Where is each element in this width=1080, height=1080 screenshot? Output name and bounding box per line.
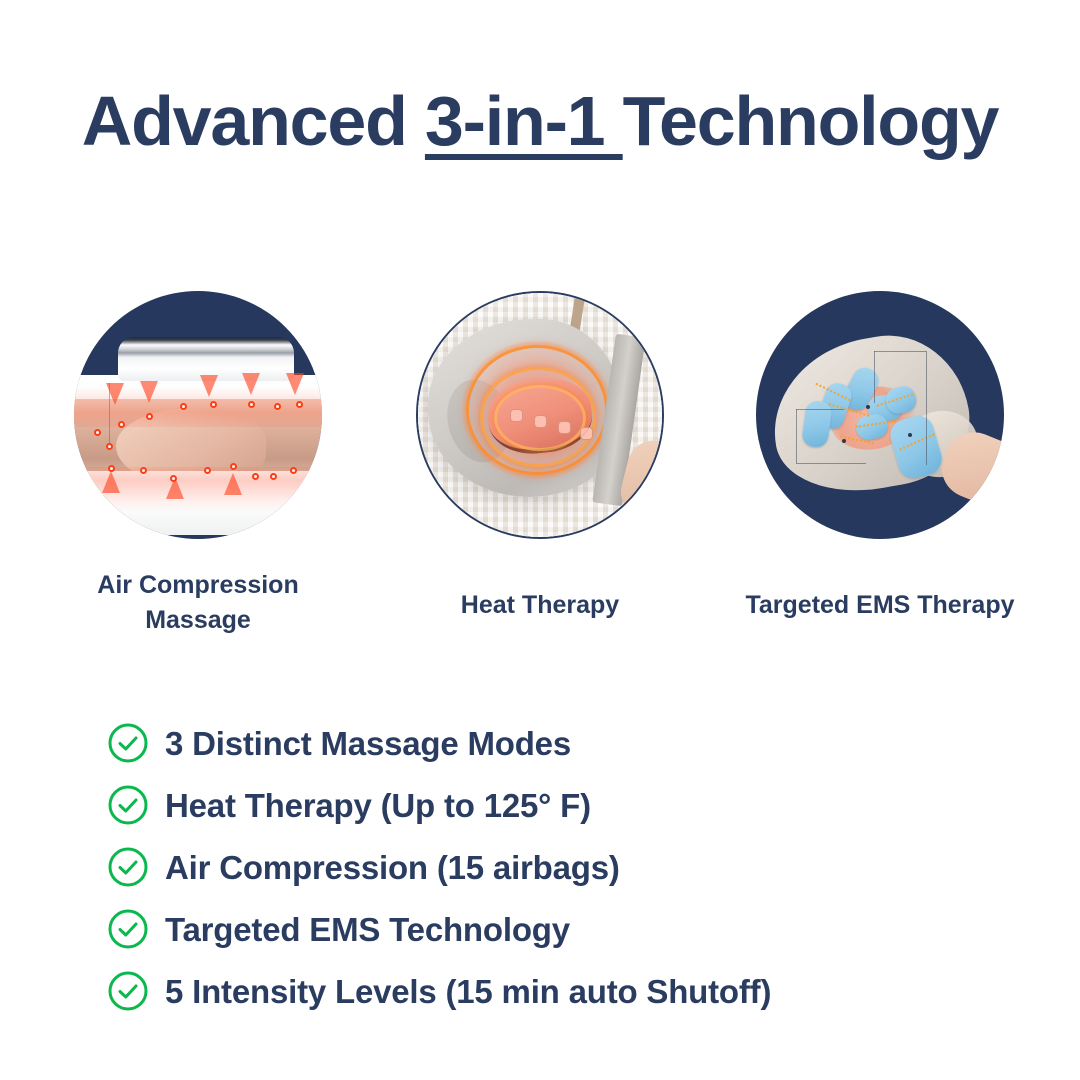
check-circle-icon: [107, 970, 149, 1012]
air-compression-illustration: [74, 291, 322, 539]
product-feature-infographic: Advanced 3-in-1 Technology: [0, 0, 1080, 1080]
title-highlight: 3-in-1: [425, 82, 623, 160]
heat-therapy-image: [416, 291, 664, 539]
feature-item: Air Compression (15 airbags): [107, 836, 967, 898]
heat-therapy-photo: [418, 293, 662, 537]
title-suffix: Technology: [623, 82, 999, 160]
feature-label: 5 Intensity Levels (15 min auto Shutoff): [165, 975, 771, 1008]
page-title: Advanced 3-in-1 Technology: [0, 86, 1080, 156]
check-circle-icon: [107, 784, 149, 826]
technology-circles-row: [0, 291, 1080, 541]
technology-circle-heat-therapy: [416, 291, 664, 539]
feature-item: 3 Distinct Massage Modes: [107, 712, 967, 774]
feature-label: Heat Therapy (Up to 125° F): [165, 789, 591, 822]
targeted-ems-image: [756, 291, 1004, 539]
caption-air-compression: Air Compression Massage: [62, 568, 334, 637]
feature-label: 3 Distinct Massage Modes: [165, 727, 571, 760]
check-circle-icon: [107, 846, 149, 888]
feature-list: 3 Distinct Massage Modes Heat Therapy (U…: [107, 712, 967, 1022]
check-circle-icon: [107, 908, 149, 950]
technology-circle-targeted-ems: [756, 291, 1004, 539]
feature-label: Air Compression (15 airbags): [165, 851, 620, 884]
air-compression-image: [74, 291, 322, 539]
caption-targeted-ems: Targeted EMS Therapy: [714, 588, 1046, 623]
caption-heat-therapy: Heat Therapy: [404, 588, 676, 623]
feature-item: Targeted EMS Technology: [107, 898, 967, 960]
check-circle-icon: [107, 722, 149, 764]
feature-label: Targeted EMS Technology: [165, 913, 570, 946]
title-prefix: Advanced: [82, 82, 425, 160]
targeted-ems-illustration: [756, 291, 1004, 539]
feature-item: 5 Intensity Levels (15 min auto Shutoff): [107, 960, 967, 1022]
technology-circle-air-compression: [74, 291, 322, 539]
feature-item: Heat Therapy (Up to 125° F): [107, 774, 967, 836]
